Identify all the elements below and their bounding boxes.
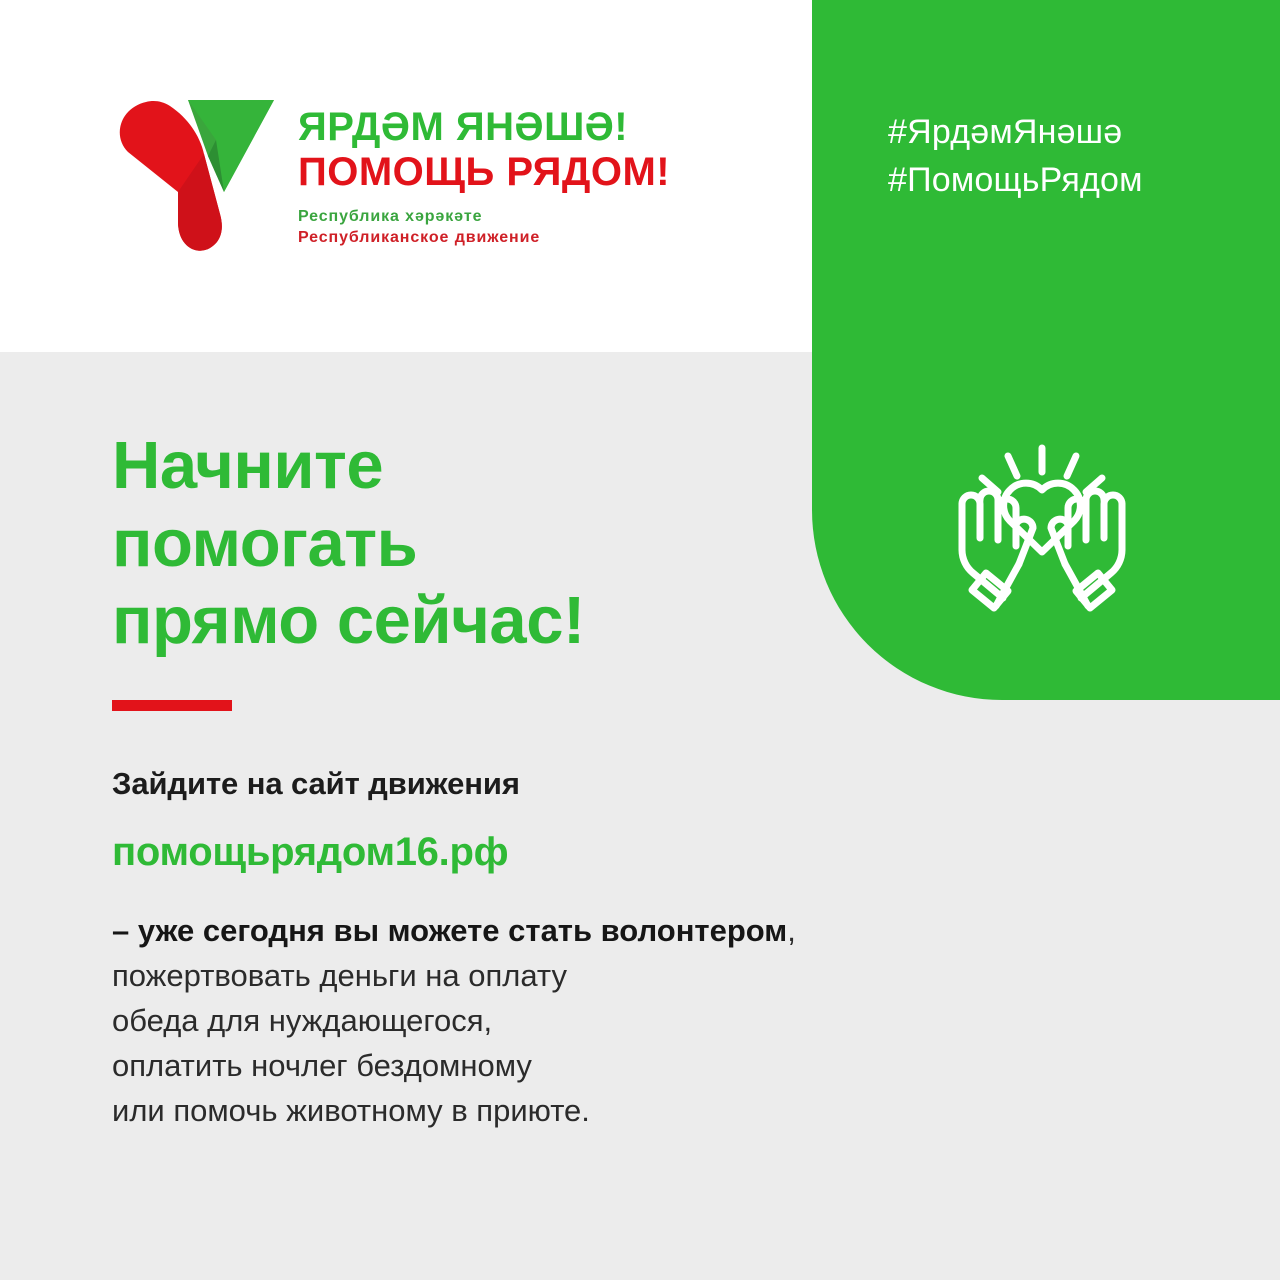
hashtag-tatar[interactable]: #ЯрдәмЯнәшә [888, 108, 1143, 156]
paragraph-line-5: или помочь животному в приюте. [112, 1089, 1012, 1134]
logo-text-block: ЯРДӘМ ЯНӘШӘ! ПОМОЩЬ РЯДОМ! Республика хә… [298, 96, 670, 247]
paragraph-line-4: оплатить ночлег бездомному [112, 1044, 1012, 1089]
website-domain-link[interactable]: помощьрядом16.рф [112, 830, 1012, 875]
hashtag-list: #ЯрдәмЯнәшә #ПомощьРядом [888, 108, 1143, 205]
headline-line-1: Начните [112, 427, 585, 505]
paragraph-line-2: пожертвовать деньги на оплату [112, 954, 1012, 999]
paragraph-bold-lead: – уже сегодня вы можете стать волонтером [112, 913, 787, 948]
logo-subtitle-tatar: Республика хәрәкәте [298, 208, 670, 226]
hands-holding-heart-icon [938, 432, 1146, 638]
lead-text: Зайдите на сайт движения [112, 766, 1012, 802]
logo-y-mark-icon [112, 96, 280, 256]
brand-logo: ЯРДӘМ ЯНӘШӘ! ПОМОЩЬ РЯДОМ! Республика хә… [112, 96, 670, 256]
body-copy-block: Зайдите на сайт движения помощьрядом16.р… [112, 766, 1012, 1134]
logo-subtitle-russian: Республиканское движение [298, 229, 670, 247]
description-paragraph: – уже сегодня вы можете стать волонтером… [112, 909, 1012, 1134]
headline-line-2: помогать [112, 505, 585, 583]
hashtag-russian[interactable]: #ПомощьРядом [888, 156, 1143, 204]
poster-canvas: ЯРДӘМ ЯНӘШӘ! ПОМОЩЬ РЯДОМ! Республика хә… [0, 0, 1280, 1280]
headline-line-3: прямо сейчас! [112, 582, 585, 660]
page-title: Начните помогать прямо сейчас! [112, 427, 585, 660]
logo-title-tatar: ЯРДӘМ ЯНӘШӘ! [298, 106, 670, 149]
logo-title-russian: ПОМОЩЬ РЯДОМ! [298, 151, 670, 194]
red-divider [112, 700, 232, 711]
paragraph-comma: , [787, 913, 796, 948]
paragraph-line-3: обеда для нуждающегося, [112, 999, 1012, 1044]
